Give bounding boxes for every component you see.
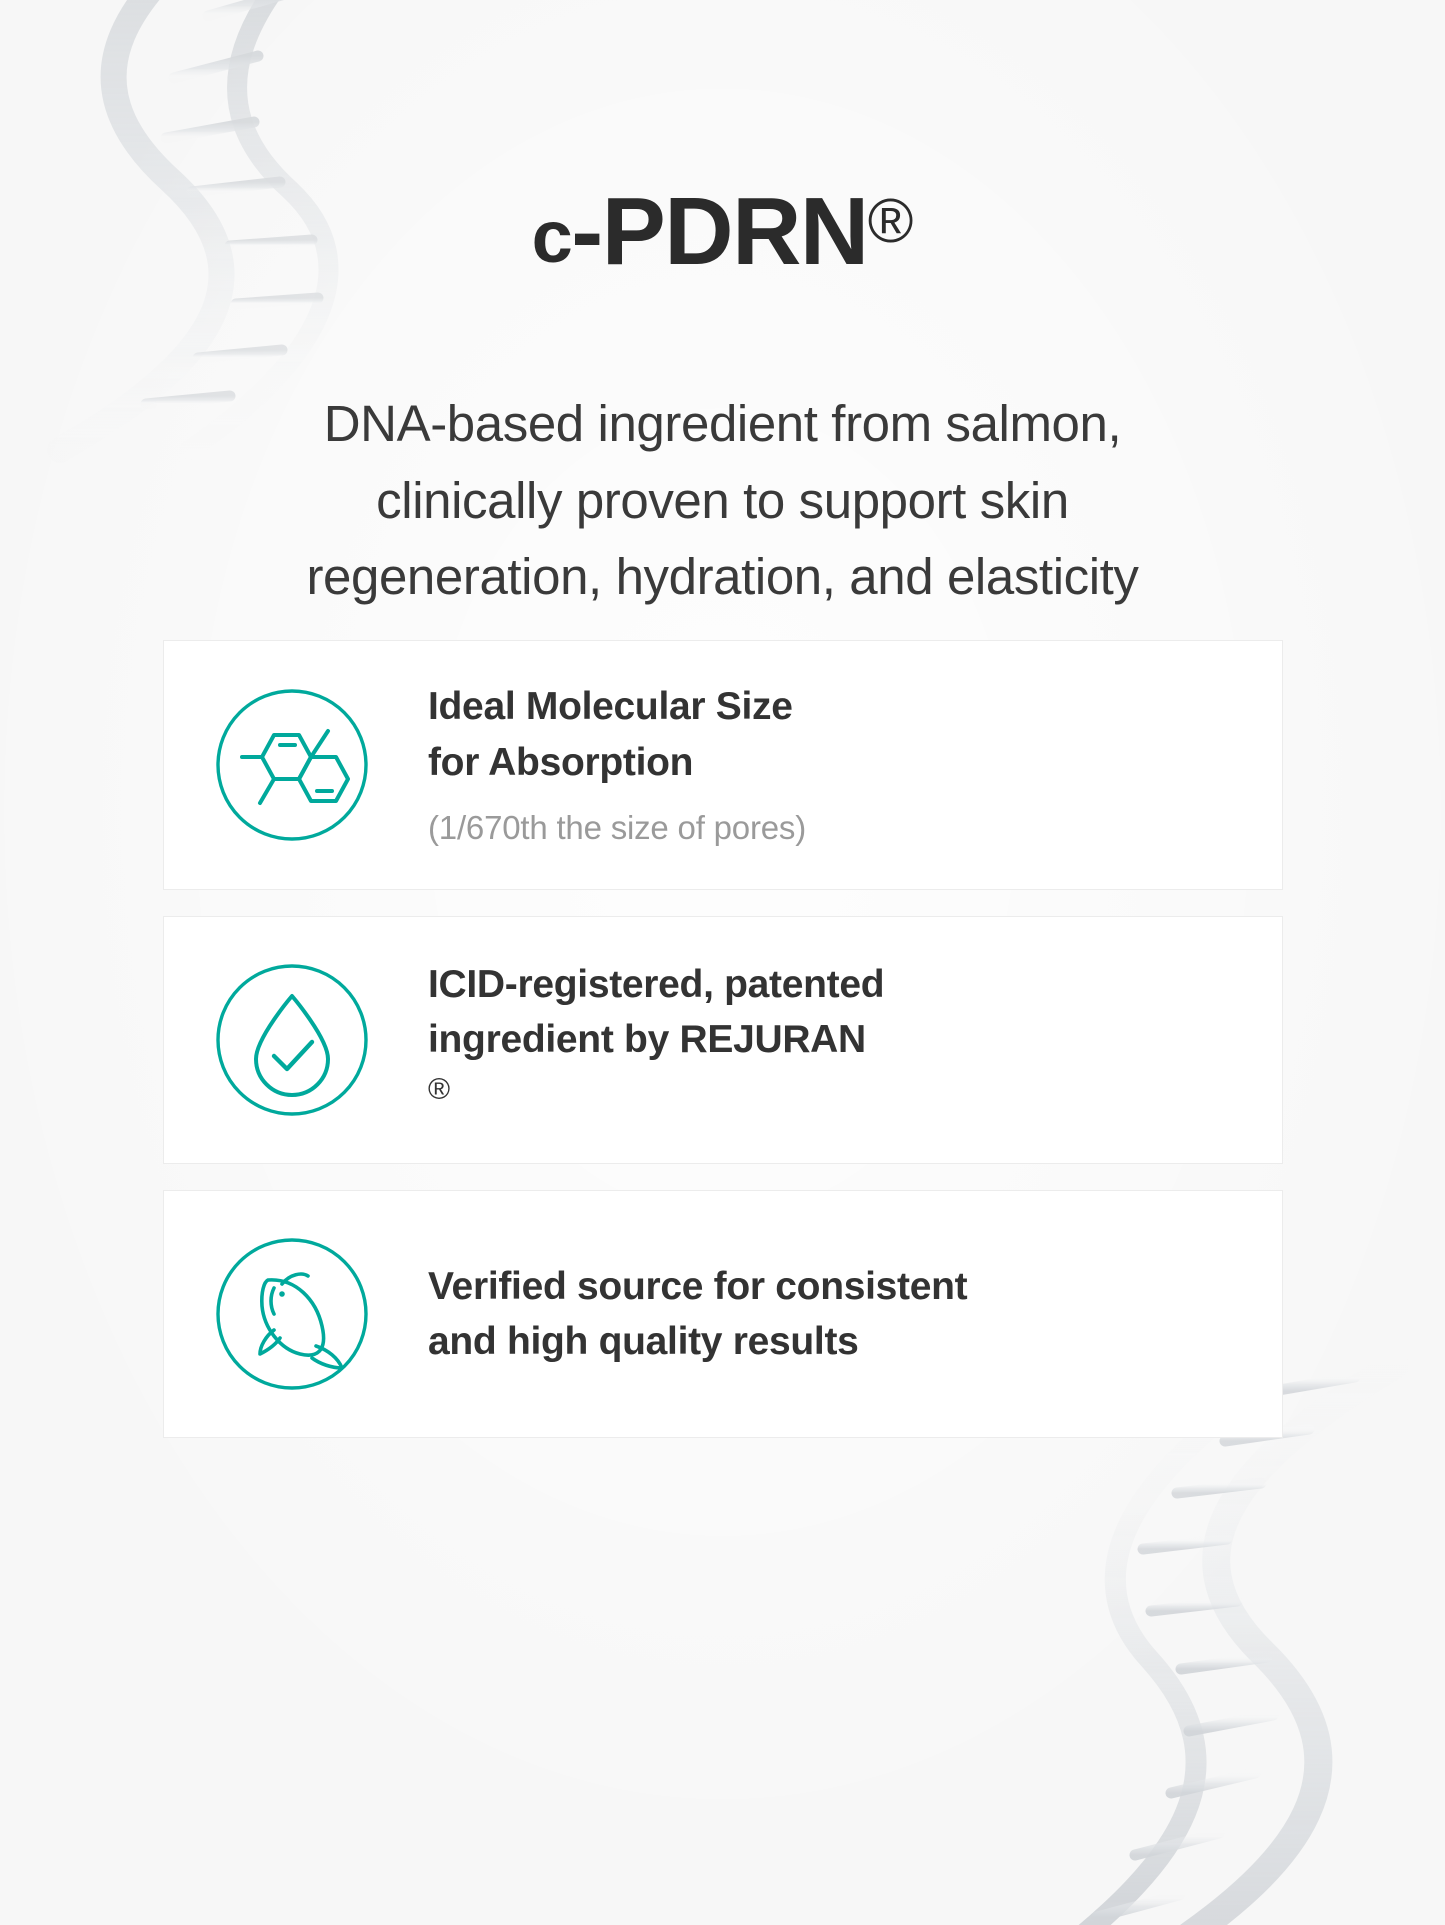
feature-card-heading: ICID-registered, patented ingredient by … bbox=[428, 957, 1242, 1123]
molecule-hexagons-icon bbox=[212, 685, 372, 845]
registered-trademark-icon: ® bbox=[868, 187, 914, 256]
feature-card-icid-registered[interactable]: ICID-registered, patented ingredient by … bbox=[163, 916, 1283, 1164]
infographic-page: c-PDRN® DNA-based ingredient from salmon… bbox=[0, 0, 1445, 1805]
page-title-main: -PDRN bbox=[571, 178, 867, 285]
feature-card-molecular-size[interactable]: Ideal Molecular Size for Absorption (1/6… bbox=[163, 640, 1283, 890]
page-subtitle: DNA-based ingredient from salmon, clinic… bbox=[193, 386, 1253, 616]
feature-card-list: Ideal Molecular Size for Absorption (1/6… bbox=[163, 640, 1283, 1438]
page-subtitle-line-3: regeneration, hydration, and elasticity bbox=[193, 539, 1253, 616]
registered-trademark-icon: ® bbox=[428, 1073, 450, 1106]
feature-card-heading: Ideal Molecular Size for Absorption bbox=[428, 679, 1242, 790]
water-droplet-check-icon bbox=[212, 960, 372, 1120]
feature-card-heading-line-2-text: ingredient by REJURAN bbox=[428, 1012, 1242, 1067]
feature-card-heading-line-2: for Absorption bbox=[428, 735, 1242, 790]
feature-card-heading-line-1: Ideal Molecular Size bbox=[428, 679, 1242, 734]
page-title: c-PDRN® bbox=[0, 182, 1445, 283]
feature-card-note: (1/670th the size of pores) bbox=[428, 806, 1242, 851]
page-subtitle-line-1: DNA-based ingredient from salmon, bbox=[193, 386, 1253, 463]
feature-card-heading-line-1: ICID-registered, patented bbox=[428, 957, 1242, 1012]
feature-card-verified-source[interactable]: Verified source for consistent and high … bbox=[163, 1190, 1283, 1438]
feature-card-body: Ideal Molecular Size for Absorption (1/6… bbox=[428, 679, 1282, 850]
feature-card-heading-line-1: Verified source for consistent bbox=[428, 1259, 1242, 1314]
feature-card-body: ICID-registered, patented ingredient by … bbox=[428, 957, 1282, 1123]
feature-card-heading: Verified source for consistent and high … bbox=[428, 1259, 1242, 1370]
page-title-lead: c bbox=[532, 195, 572, 278]
feature-card-heading-line-2: and high quality results bbox=[428, 1314, 1242, 1369]
feature-card-heading-line-2: ingredient by REJURAN® bbox=[428, 1012, 1242, 1123]
feature-card-body: Verified source for consistent and high … bbox=[428, 1259, 1282, 1370]
salmon-fish-icon bbox=[212, 1234, 372, 1394]
page-subtitle-line-2: clinically proven to support skin bbox=[193, 463, 1253, 540]
